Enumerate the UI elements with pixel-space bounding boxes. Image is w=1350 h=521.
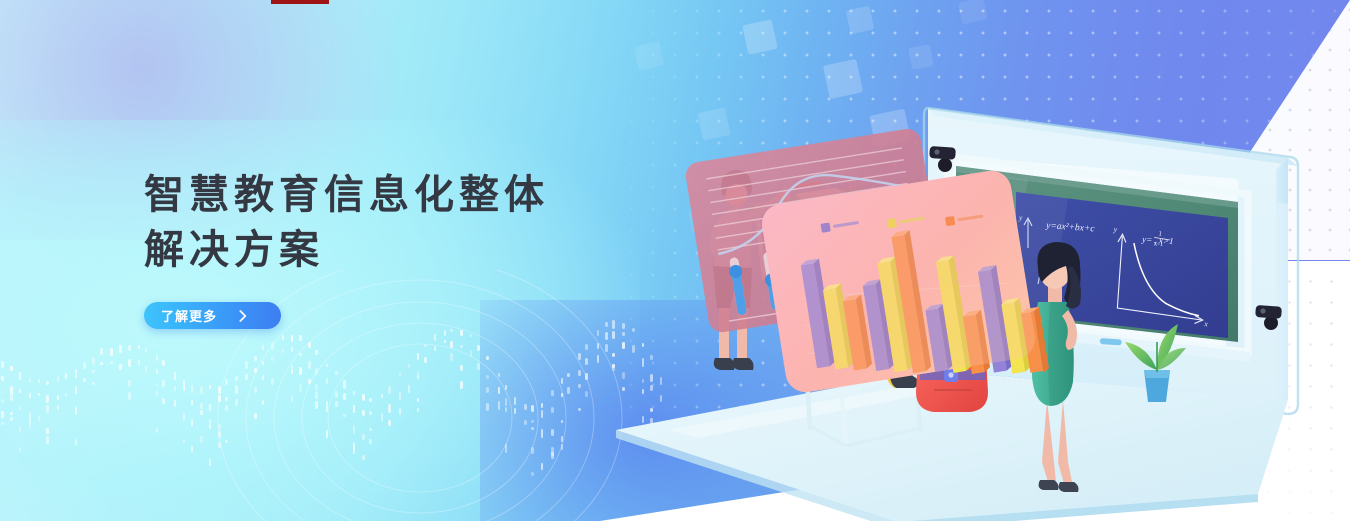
- hero-copy: 智慧教育信息化整体 解决方案 了解更多: [144, 168, 549, 329]
- learn-more-label: 了解更多: [161, 306, 217, 325]
- decor-square: [742, 19, 778, 55]
- decor-square: [846, 6, 874, 34]
- page-title: 智慧教育信息化整体 解决方案: [144, 168, 549, 278]
- decor-square: [908, 44, 934, 70]
- smart-classroom-illustration: y=ax²+bx+c y= , x>1 1 x-1 y: [598, 70, 1350, 521]
- education-hero-banner: y=ax²+bx+c y= , x>1 1 x-1 y: [0, 0, 1350, 521]
- decor-wave-dots: [0, 300, 680, 521]
- learn-more-button[interactable]: 了解更多: [144, 302, 281, 329]
- top-progress-tick: [271, 0, 329, 4]
- svg-text:x-1: x-1: [1153, 239, 1163, 248]
- chevron-right-icon: [239, 310, 247, 322]
- svg-text:y: y: [1018, 213, 1023, 222]
